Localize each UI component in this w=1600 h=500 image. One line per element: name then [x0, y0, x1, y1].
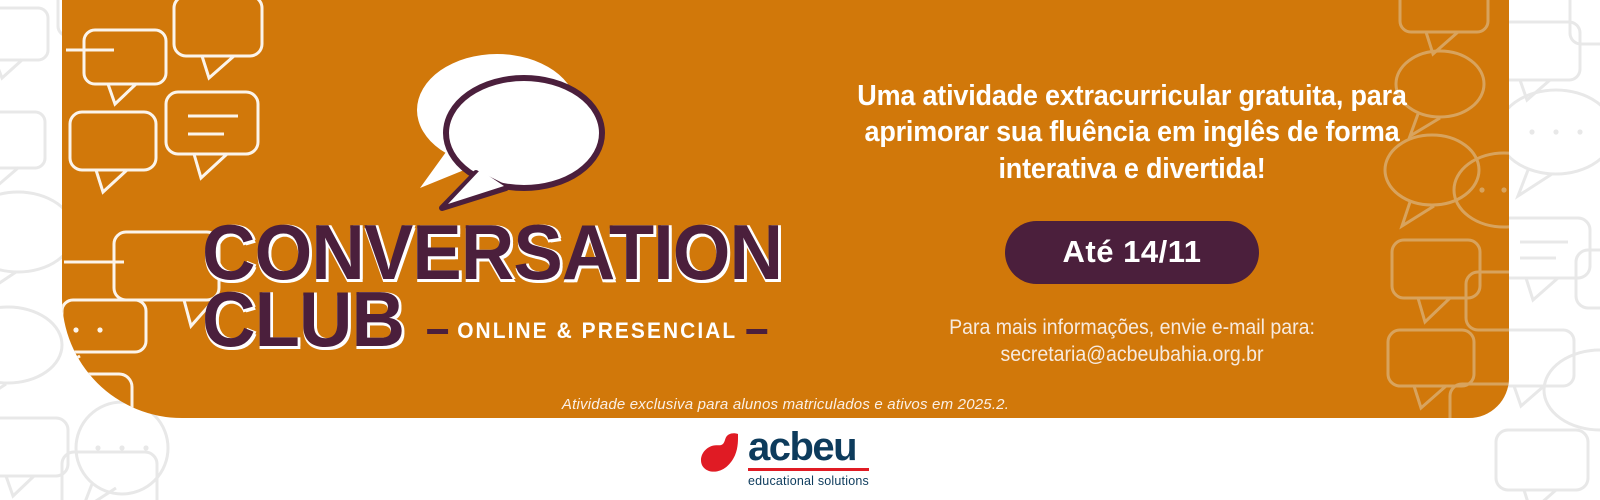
contact-email[interactable]: secretaria@acbeubahia.org.br: [844, 341, 1421, 368]
cta-wrapper: Até 14/11: [822, 221, 1442, 284]
acbeu-word: acbeu: [748, 428, 869, 467]
dash-right-icon: [747, 329, 768, 334]
subtitle-group: ONLINE & PRESENCIAL: [427, 322, 768, 341]
contact-label: Para mais informações, envie e-mail para…: [949, 316, 1315, 339]
footnote-text: Atividade exclusiva para alunos matricul…: [62, 396, 1509, 413]
left-block: CONVERSATION CLUB ONLINE & PRESENCIAL: [142, 48, 842, 353]
deadline-button[interactable]: Até 14/11: [1005, 221, 1260, 284]
banner-content: CONVERSATION CLUB ONLINE & PRESENCIAL Um…: [62, 0, 1509, 418]
speech-bubbles-icon: [402, 48, 622, 213]
acbeu-wordmark: acbeu educational solutions: [748, 428, 869, 488]
subtitle-text: ONLINE & PRESENCIAL: [457, 322, 737, 341]
acbeu-tagline: educational solutions: [748, 474, 869, 488]
right-block: Uma atividade extracurricular gratuita, …: [822, 78, 1442, 368]
acbeu-logo[interactable]: acbeu educational solutions: [700, 428, 869, 488]
logo-underline: [748, 468, 869, 471]
title-line-2-row: CLUB ONLINE & PRESENCIAL: [202, 286, 810, 353]
title-line-2: CLUB: [202, 286, 404, 353]
title-group: CONVERSATION CLUB ONLINE & PRESENCIAL: [202, 219, 842, 353]
headline-text: Uma atividade extracurricular gratuita, …: [844, 78, 1421, 187]
contact-block: Para mais informações, envie e-mail para…: [844, 314, 1421, 369]
promo-banner: CONVERSATION CLUB ONLINE & PRESENCIAL Um…: [0, 0, 1600, 500]
acbeu-droplet-icon: [700, 430, 740, 472]
dash-left-icon: [427, 329, 448, 334]
